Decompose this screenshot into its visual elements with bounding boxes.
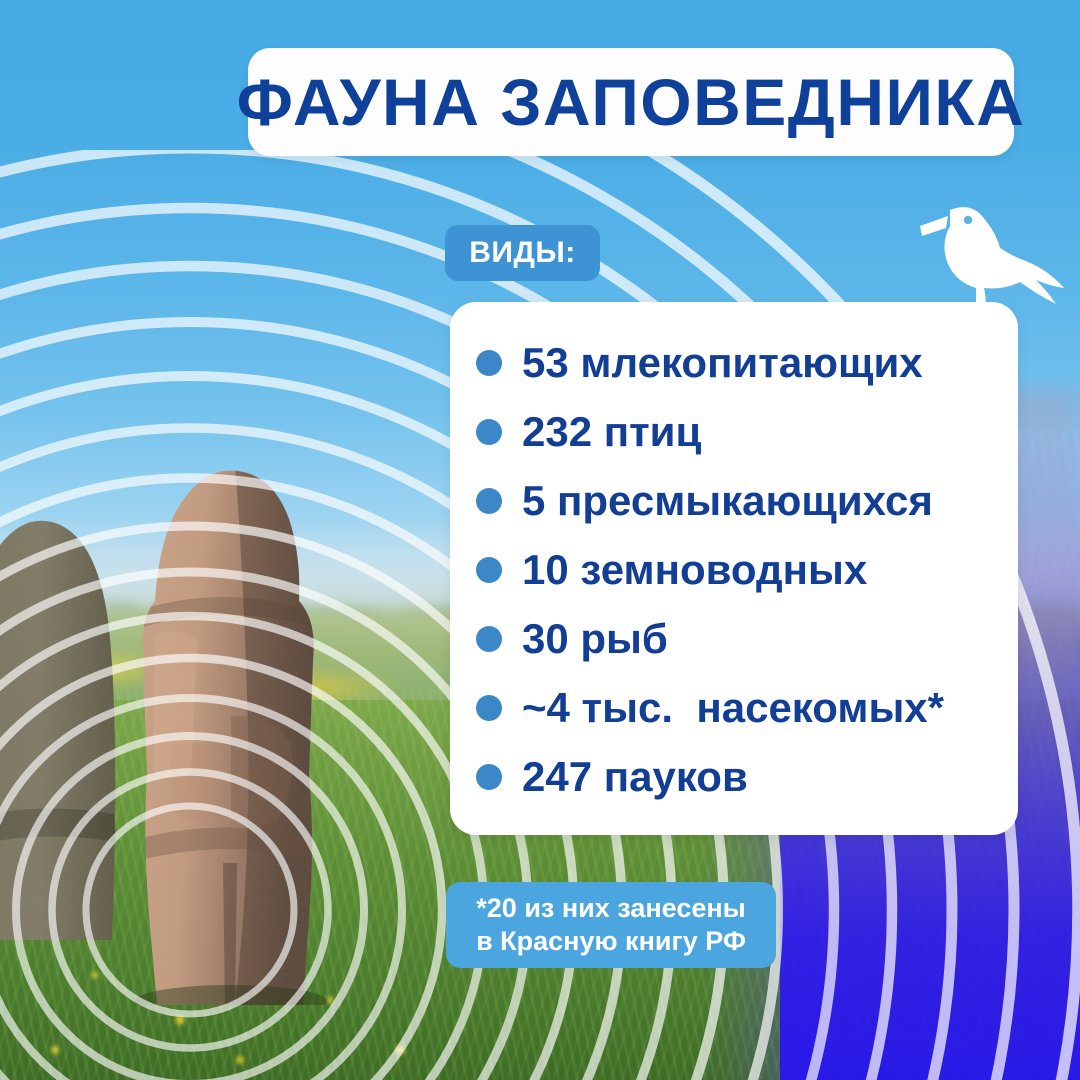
section-badge: ВИДЫ: <box>445 225 600 281</box>
list-item-label: 53 млекопитающих <box>522 342 923 384</box>
list-item: 232 птиц <box>450 397 1018 466</box>
list-item-label: 10 земноводных <box>522 549 867 591</box>
bullet-icon <box>476 488 502 514</box>
bullet-icon <box>476 626 502 652</box>
infographic-poster: ФАУНА ЗАПОВЕДНИКА ВИДЫ: 53 млекопитающих… <box>0 0 1080 1080</box>
species-list-card: 53 млекопитающих 232 птиц 5 пресмыкающих… <box>450 302 1018 835</box>
singing-bird-icon <box>908 196 1068 316</box>
list-item: 247 пауков <box>450 742 1018 811</box>
page-title: ФАУНА ЗАПОВЕДНИКА <box>237 69 1026 135</box>
title-card: ФАУНА ЗАПОВЕДНИКА <box>248 48 1014 156</box>
section-badge-label: ВИДЫ: <box>469 236 575 270</box>
list-item: 10 земноводных <box>450 535 1018 604</box>
list-item: 30 рыб <box>450 604 1018 673</box>
bullet-icon <box>476 557 502 583</box>
footnote-badge: *20 из них занесены в Красную книгу РФ <box>446 882 776 968</box>
list-item-label: 232 птиц <box>522 411 701 453</box>
list-item: ~4 тыс. насекомых* <box>450 673 1018 742</box>
stone-statue-icon <box>85 445 375 1005</box>
list-item-label: 30 рыб <box>522 618 668 660</box>
list-item-label: 5 пресмыкающихся <box>522 480 933 522</box>
bullet-icon <box>476 695 502 721</box>
list-item-label: ~4 тыс. насекомых* <box>522 687 944 729</box>
bullet-icon <box>476 764 502 790</box>
list-item-label: 247 пауков <box>522 756 748 798</box>
list-item: 53 млекопитающих <box>450 328 1018 397</box>
bullet-icon <box>476 419 502 445</box>
list-item: 5 пресмыкающихся <box>450 466 1018 535</box>
footnote-line-2: в Красную книгу РФ <box>476 925 746 958</box>
bullet-icon <box>476 350 502 376</box>
footnote-line-1: *20 из них занесены <box>476 892 745 925</box>
